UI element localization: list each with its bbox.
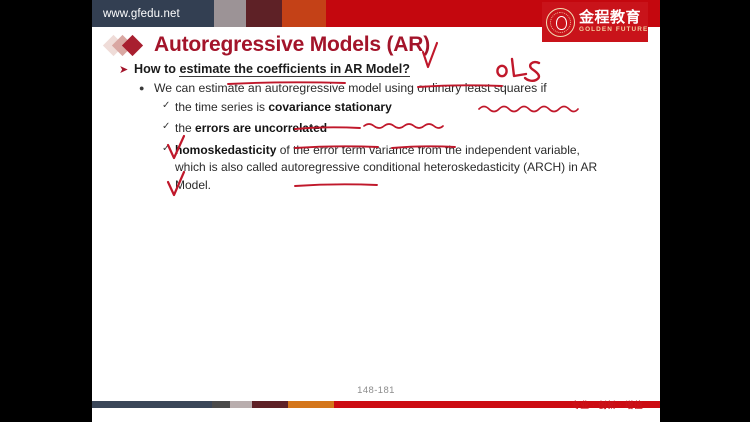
arrow-bullet-icon: ➤ xyxy=(119,62,134,76)
footer-segment-gray xyxy=(230,401,252,408)
check-bullet-icon: ✓ xyxy=(162,142,175,194)
condition-plain-a: the time series is xyxy=(175,100,268,114)
condition-bold: homoskedasticity xyxy=(175,143,276,157)
brand-logo: 金程教育 GOLDEN FUTURE xyxy=(542,2,648,42)
condition-plain-a: the xyxy=(175,121,195,135)
site-url: www.gfedu.net xyxy=(92,8,180,20)
statement-text: We can estimate an autoregressive model … xyxy=(154,81,547,95)
footer-tagline: 专业 · 创新 · 增值 xyxy=(571,399,643,411)
slide-body: ➤ How to estimate the coefficients in AR… xyxy=(92,62,660,198)
gfedu-seal-icon xyxy=(546,8,575,37)
footer-segment-maroon xyxy=(252,401,288,408)
footer-segment-orange xyxy=(288,401,334,408)
condition-text: homoskedasticity of the error term varia… xyxy=(175,142,610,194)
condition-bold: errors are uncorrelated xyxy=(195,121,327,135)
condition-text: the errors are uncorrelated xyxy=(175,120,327,137)
slide-title-row: Autoregressive Models (AR) xyxy=(106,33,430,57)
presentation-slide: www.gfedu.net 金程教育 GOLDEN FUTURE Autoreg… xyxy=(92,0,660,422)
footer-segment-dark xyxy=(212,401,230,408)
condition-text: the time series is covariance stationary xyxy=(175,99,392,116)
header-url-block: www.gfedu.net xyxy=(92,0,214,27)
header-segment-orange xyxy=(282,0,326,27)
footer-segment-navy xyxy=(92,401,212,408)
bullet-level3-condition: ✓ the errors are uncorrelated xyxy=(92,120,660,137)
question-underlined: estimate the coefficients in AR Model? xyxy=(179,62,409,77)
logo-wordmark: 金程教育 GOLDEN FUTURE xyxy=(579,10,648,33)
video-letterbox-frame: www.gfedu.net 金程教育 GOLDEN FUTURE Autoreg… xyxy=(0,0,750,422)
dot-bullet-icon: ● xyxy=(139,81,154,95)
footer-tagline-dash xyxy=(644,401,660,408)
bullet-level3-condition: ✓ homoskedasticity of the error term var… xyxy=(92,142,660,194)
page-title: Autoregressive Models (AR) xyxy=(154,33,430,57)
page-number: 148-181 xyxy=(92,385,660,396)
condition-bold: covariance stationary xyxy=(268,100,391,114)
check-bullet-icon: ✓ xyxy=(162,99,175,116)
header-segment-maroon xyxy=(246,0,282,27)
bullet-level1-question: ➤ How to estimate the coefficients in AR… xyxy=(92,62,660,76)
bullet-level3-condition: ✓ the time series is covariance stationa… xyxy=(92,99,660,116)
diamond-bullet-icon xyxy=(106,34,152,56)
check-bullet-icon: ✓ xyxy=(162,120,175,137)
logo-english-name: GOLDEN FUTURE xyxy=(579,27,648,33)
question-text: How to estimate the coefficients in AR M… xyxy=(134,62,410,76)
question-lead: How to xyxy=(134,62,179,76)
bullet-level2-statement: ● We can estimate an autoregressive mode… xyxy=(92,81,660,95)
header-segment-gray xyxy=(214,0,246,27)
logo-chinese-name: 金程教育 xyxy=(579,10,648,25)
